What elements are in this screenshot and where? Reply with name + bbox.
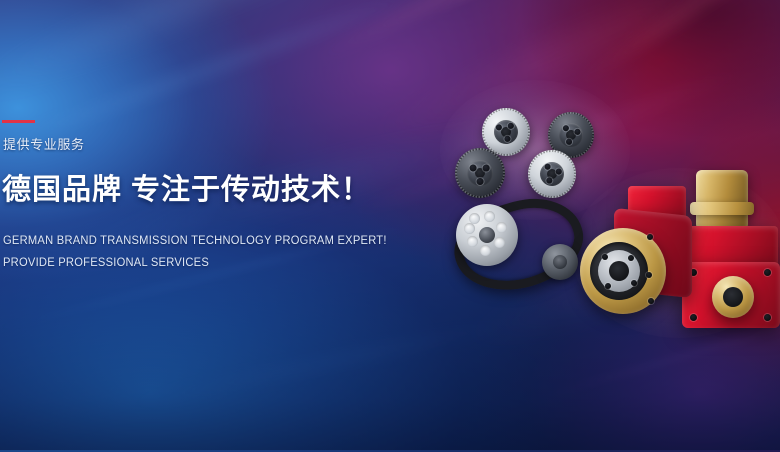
banner-headline: 德国品牌 专注于传动技术！ xyxy=(2,173,371,207)
banner-kicker: 提供专业服务 xyxy=(3,136,85,153)
pulley-lightening-hole xyxy=(480,245,491,256)
pulley-lightening-hole xyxy=(484,211,495,222)
gearbox-flange-bolt xyxy=(764,269,771,276)
banner-english-subtitle: GERMAN BRAND TRANSMISSION TECHNOLOGY PRO… xyxy=(3,230,403,274)
right-angle-gearbox-front xyxy=(572,186,704,334)
timing-belt-assembly xyxy=(452,196,592,304)
english-subtitle-line: PROVIDE PROFESSIONAL SERVICES xyxy=(3,252,391,274)
pulley-lightening-hole xyxy=(494,237,505,248)
timing-pulley-dark-left xyxy=(453,146,506,199)
banner-copy: 提供专业服务 德国品牌 专注于传动技术！ GERMAN BRAND TRANSM… xyxy=(0,0,420,452)
gearbox-output-bore xyxy=(723,287,743,307)
pulley-hub xyxy=(479,227,495,243)
pulley-lightening-hole xyxy=(496,222,507,233)
gearbox-flange-bolt xyxy=(602,254,608,260)
gearbox-housing-bolt xyxy=(646,272,652,278)
pulley-lightening-hole xyxy=(467,236,478,247)
promo-banner: 提供专业服务 德国品牌 专注于传动技术！ GERMAN BRAND TRANSM… xyxy=(0,0,780,452)
gearbox-flange-bolt xyxy=(605,283,611,289)
gearbox-flange-bolt xyxy=(764,314,771,321)
gearbox-flange-bolt xyxy=(628,255,634,261)
pulley-hub xyxy=(553,255,567,269)
gearbox-housing-bolt xyxy=(648,298,654,304)
accent-rule xyxy=(2,120,35,123)
gearbox-housing-bolt xyxy=(647,234,653,240)
belt-large-pulley xyxy=(456,204,518,266)
pulley-lightening-hole xyxy=(464,223,475,234)
gearbox-output-bore xyxy=(609,261,629,281)
gearbox-flange-bolt xyxy=(631,280,637,286)
english-subtitle-line: GERMAN BRAND TRANSMISSION TECHNOLOGY PRO… xyxy=(3,230,391,252)
